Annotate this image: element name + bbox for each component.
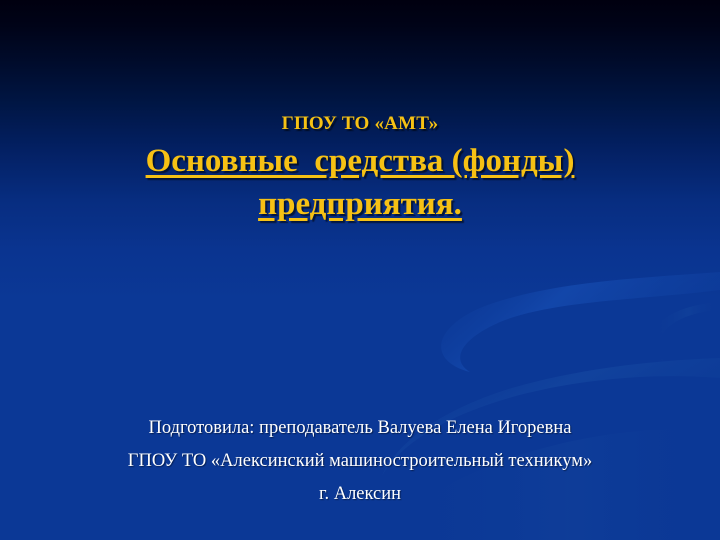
credits-city: г. Алексин: [0, 478, 720, 511]
slide-title-block: ГПОУ ТО «АМТ» Основные средства (фонды) …: [0, 112, 720, 226]
slide-headline: Основные средства (фонды) предприятия.: [0, 140, 720, 226]
credits-author: Подготовила: преподаватель Валуева Елена…: [0, 412, 720, 445]
ribbon-hook-right: [650, 302, 720, 366]
slide-kicker: ГПОУ ТО «АМТ»: [0, 112, 720, 136]
slide-credits-block: Подготовила: преподаватель Валуева Елена…: [0, 412, 720, 511]
credits-institution: ГПОУ ТО «Алексинский машиностроительный …: [0, 445, 720, 478]
slide-headline-line-1: Основные средства (фонды): [0, 140, 720, 183]
slide-headline-line-2: предприятия.: [0, 183, 720, 226]
ribbon-swirl-upper: [441, 272, 720, 372]
presentation-slide: ГПОУ ТО «АМТ» Основные средства (фонды) …: [0, 0, 720, 540]
